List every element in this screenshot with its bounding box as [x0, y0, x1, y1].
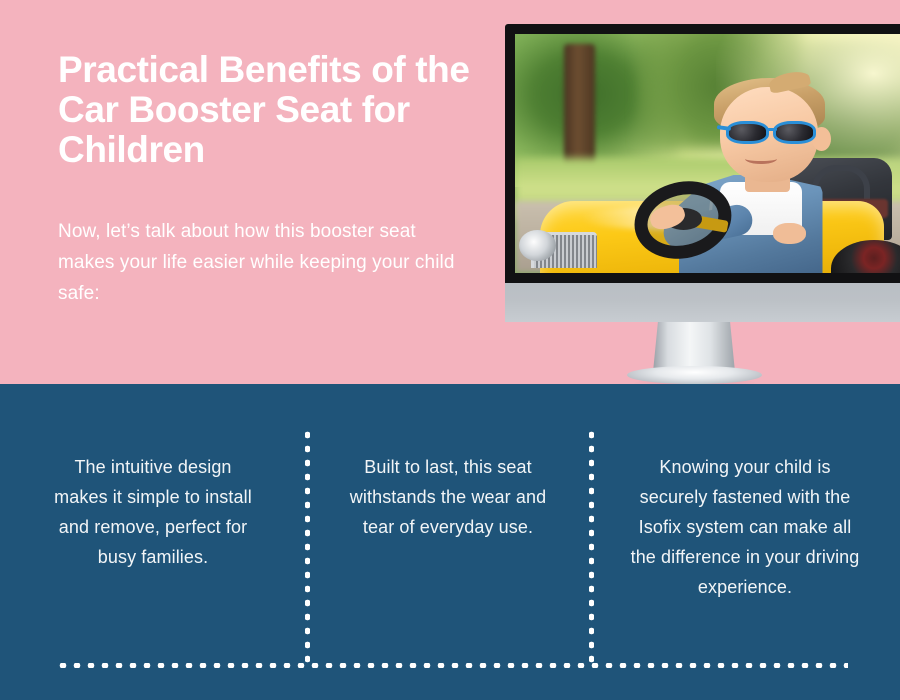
- benefits-panel: The intuitive design makes it simple to …: [0, 384, 900, 700]
- boy-right-hand: [773, 223, 806, 245]
- monitor-stand-neck: [653, 322, 735, 372]
- column-divider-2: [589, 428, 594, 666]
- benefit-item-easy-install: The intuitive design makes it simple to …: [0, 384, 306, 602]
- boy-in-toy-car-photo: [515, 34, 900, 273]
- header-subtitle: Now, let’s talk about how this booster s…: [58, 216, 470, 309]
- infographic-canvas: Practical Benefits of the Car Booster Se…: [0, 0, 900, 700]
- toy-car-headlamp-icon: [519, 230, 556, 261]
- benefit-item-durability: Built to last, this seat withstands the …: [306, 384, 590, 602]
- sunglasses-right-lens-icon: [773, 121, 816, 144]
- sunglasses-left-lens-icon: [726, 121, 769, 144]
- bottom-dotted-rule: [56, 663, 848, 668]
- monitor-chin: [505, 283, 900, 322]
- benefit-item-isofix-security: Knowing your child is securely fastened …: [590, 384, 900, 602]
- monitor-screen: [515, 34, 900, 273]
- monitor-illustration: [505, 24, 900, 324]
- monitor-bezel: [505, 24, 900, 283]
- sunglasses-bridge-icon: [767, 128, 778, 131]
- header-panel: Practical Benefits of the Car Booster Se…: [0, 0, 900, 384]
- monitor-stand-base: [627, 366, 762, 384]
- page-title: Practical Benefits of the Car Booster Se…: [58, 50, 478, 170]
- benefits-columns: The intuitive design makes it simple to …: [0, 384, 900, 602]
- column-divider-1: [305, 428, 310, 666]
